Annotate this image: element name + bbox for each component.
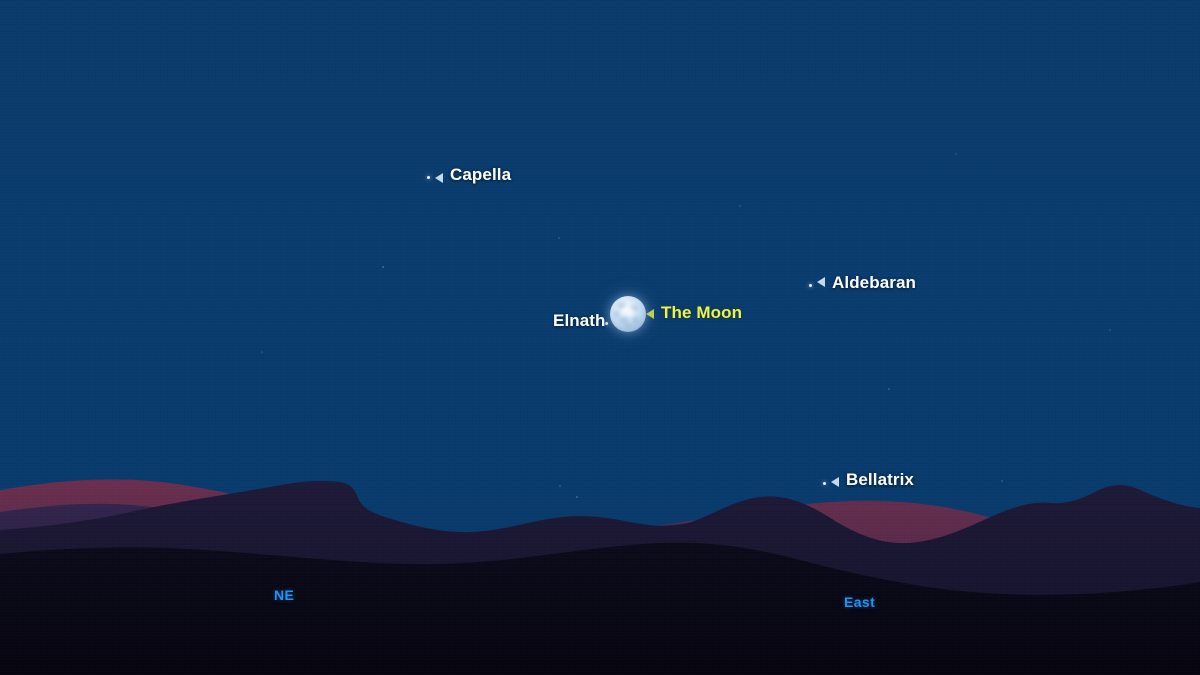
- moon-disc[interactable]: [610, 296, 646, 332]
- compass-label-east: East: [844, 594, 875, 610]
- moon-mare: [614, 310, 620, 318]
- pointer-triangle-capella: [435, 173, 443, 183]
- object-label-aldebaran[interactable]: Aldebaran: [832, 273, 916, 293]
- horizon-landscape: [0, 0, 1200, 675]
- object-label-capella[interactable]: Capella: [450, 165, 511, 185]
- pointer-triangle-aldebaran: [817, 277, 825, 287]
- object-label-bellatrix[interactable]: Bellatrix: [846, 470, 914, 490]
- pointer-triangle-bellatrix: [831, 477, 839, 487]
- object-label-the-moon[interactable]: The Moon: [661, 303, 742, 323]
- moon-mare: [624, 323, 633, 328]
- sky-chart-viewport[interactable]: CapellaAldebaranBellatrixElnathThe Moon …: [0, 0, 1200, 675]
- compass-label-ne: NE: [274, 587, 294, 603]
- pointer-triangle-the-moon: [646, 309, 654, 319]
- object-label-elnath[interactable]: Elnath: [553, 311, 606, 331]
- moon-highlight: [623, 307, 634, 316]
- moon-mare: [632, 317, 639, 324]
